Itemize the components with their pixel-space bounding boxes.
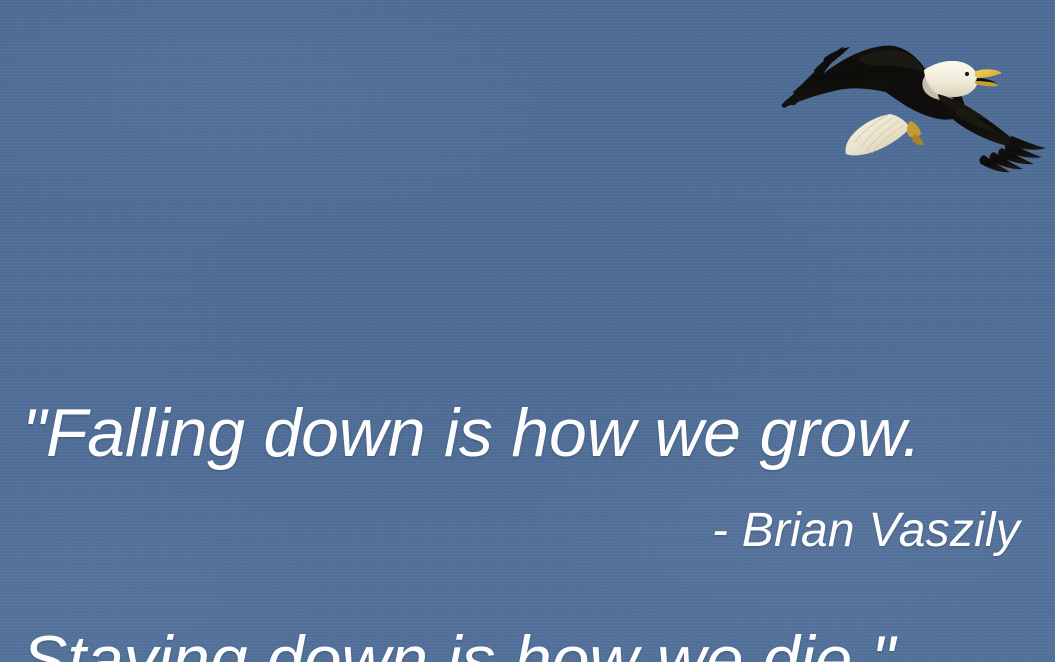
- quote-attribution: - Brian Vaszily: [0, 503, 1020, 559]
- quote-poster: "Falling down is how we grow. Staying do…: [0, 0, 1055, 662]
- quote-text: "Falling down is how we grow. Staying do…: [22, 243, 1042, 662]
- quote-line-2: Staying down is how we die.": [22, 622, 1042, 662]
- quote-line-1: "Falling down is how we grow.: [22, 395, 1042, 471]
